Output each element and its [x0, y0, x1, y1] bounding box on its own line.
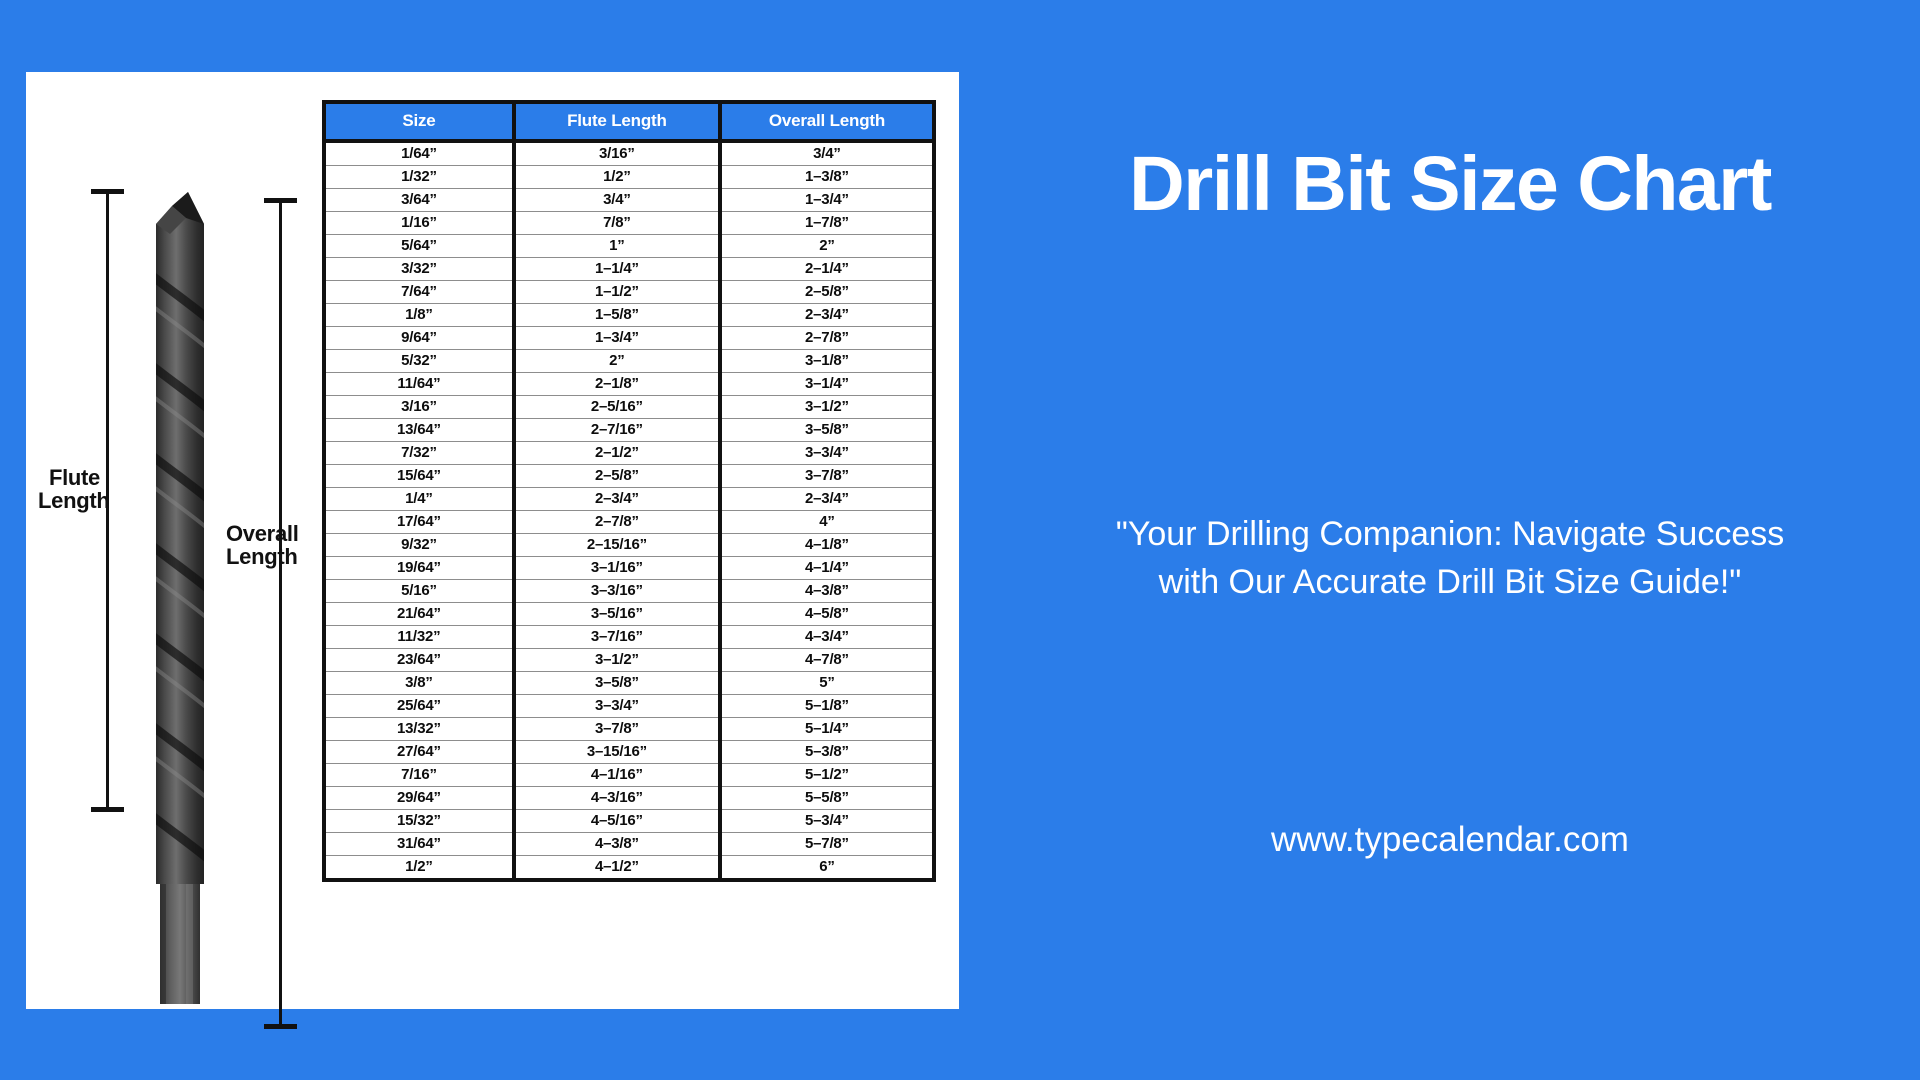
cell-size: 31/64”	[326, 833, 514, 856]
table-row: 19/64”3–1/16”4–1/4”	[326, 557, 932, 580]
table-row: 1/4”2–3/4”2–3/4”	[326, 488, 932, 511]
flute-length-bottom-tick	[91, 807, 124, 812]
cell-flute-length: 1”	[514, 235, 720, 258]
cell-size: 25/64”	[326, 695, 514, 718]
table-row: 5/16”3–3/16”4–3/8”	[326, 580, 932, 603]
cell-overall-length: 3–1/8”	[720, 350, 932, 373]
table-row: 25/64”3–3/4”5–1/8”	[326, 695, 932, 718]
table-header-row: Size Flute Length Overall Length	[326, 104, 932, 141]
table-row: 1/64”3/16”3/4”	[326, 141, 932, 166]
tagline-line-2: with Our Accurate Drill Bit Size Guide!"	[1000, 558, 1900, 606]
table-row: 3/16”2–5/16”3–1/2”	[326, 396, 932, 419]
cell-flute-length: 2–7/8”	[514, 511, 720, 534]
cell-size: 11/64”	[326, 373, 514, 396]
cell-flute-length: 3–3/4”	[514, 695, 720, 718]
cell-flute-length: 4–3/8”	[514, 833, 720, 856]
table-row: 3/8”3–5/8”5”	[326, 672, 932, 695]
cell-size: 13/64”	[326, 419, 514, 442]
cell-size: 5/16”	[326, 580, 514, 603]
cell-overall-length: 4–1/4”	[720, 557, 932, 580]
cell-flute-length: 1–5/8”	[514, 304, 720, 327]
cell-size: 13/32”	[326, 718, 514, 741]
table-row: 13/32”3–7/8”5–1/4”	[326, 718, 932, 741]
cell-size: 1/4”	[326, 488, 514, 511]
overall-length-dimension-line	[279, 199, 282, 1027]
table-row: 7/64”1–1/2”2–5/8”	[326, 281, 932, 304]
cell-overall-length: 3–1/4”	[720, 373, 932, 396]
cell-flute-length: 3–3/16”	[514, 580, 720, 603]
cell-overall-length: 5–7/8”	[720, 833, 932, 856]
cell-size: 7/32”	[326, 442, 514, 465]
cell-overall-length: 3/4”	[720, 141, 932, 166]
cell-size: 15/32”	[326, 810, 514, 833]
cell-flute-length: 2–7/16”	[514, 419, 720, 442]
table-row: 1/16”7/8”1–7/8”	[326, 212, 932, 235]
cell-overall-length: 1–7/8”	[720, 212, 932, 235]
cell-flute-length: 2–1/8”	[514, 373, 720, 396]
cell-flute-length: 2–1/2”	[514, 442, 720, 465]
table-row: 17/64”2–7/8”4”	[326, 511, 932, 534]
table-row: 7/32”2–1/2”3–3/4”	[326, 442, 932, 465]
cell-size: 3/16”	[326, 396, 514, 419]
cell-overall-length: 4–3/4”	[720, 626, 932, 649]
cell-flute-length: 4–5/16”	[514, 810, 720, 833]
cell-size: 21/64”	[326, 603, 514, 626]
cell-overall-length: 3–7/8”	[720, 465, 932, 488]
cell-flute-length: 1/2”	[514, 166, 720, 189]
column-header-flute-length: Flute Length	[514, 104, 720, 141]
cell-overall-length: 2–5/8”	[720, 281, 932, 304]
cell-size: 9/32”	[326, 534, 514, 557]
drill-bit-size-table: Size Flute Length Overall Length 1/64”3/…	[326, 104, 932, 878]
flute-length-top-tick	[91, 189, 124, 194]
right-text-panel: Drill Bit Size Chart "Your Drilling Comp…	[1000, 0, 1900, 1080]
cell-overall-length: 4–5/8”	[720, 603, 932, 626]
cell-overall-length: 2–1/4”	[720, 258, 932, 281]
twist-drill-bit-icon	[126, 184, 246, 1004]
cell-flute-length: 2–3/4”	[514, 488, 720, 511]
overall-length-top-tick	[264, 198, 297, 203]
drill-bit-size-table-container: Size Flute Length Overall Length 1/64”3/…	[322, 100, 936, 882]
cell-overall-length: 3–3/4”	[720, 442, 932, 465]
cell-overall-length: 4”	[720, 511, 932, 534]
poster-canvas: Flute Length Overall Length	[0, 0, 1920, 1080]
cell-size: 1/32”	[326, 166, 514, 189]
cell-overall-length: 5”	[720, 672, 932, 695]
cell-overall-length: 2–7/8”	[720, 327, 932, 350]
cell-flute-length: 7/8”	[514, 212, 720, 235]
cell-overall-length: 2”	[720, 235, 932, 258]
cell-size: 1/8”	[326, 304, 514, 327]
table-row: 7/16”4–1/16”5–1/2”	[326, 764, 932, 787]
table-row: 29/64”4–3/16”5–5/8”	[326, 787, 932, 810]
cell-overall-length: 5–1/2”	[720, 764, 932, 787]
table-row: 9/64”1–3/4”2–7/8”	[326, 327, 932, 350]
cell-overall-length: 4–1/8”	[720, 534, 932, 557]
cell-flute-length: 3–7/8”	[514, 718, 720, 741]
cell-size: 3/32”	[326, 258, 514, 281]
table-row: 5/64”1”2”	[326, 235, 932, 258]
flute-length-label-line2: Length	[38, 489, 100, 512]
table-row: 1/8”1–5/8”2–3/4”	[326, 304, 932, 327]
cell-flute-length: 4–3/16”	[514, 787, 720, 810]
table-header: Size Flute Length Overall Length	[326, 104, 932, 141]
cell-flute-length: 4–1/2”	[514, 856, 720, 879]
cell-size: 17/64”	[326, 511, 514, 534]
cell-overall-length: 4–3/8”	[720, 580, 932, 603]
cell-overall-length: 6”	[720, 856, 932, 879]
cell-overall-length: 3–1/2”	[720, 396, 932, 419]
cell-overall-length: 1–3/8”	[720, 166, 932, 189]
table-row: 1/32”1/2”1–3/8”	[326, 166, 932, 189]
cell-size: 15/64”	[326, 465, 514, 488]
cell-size: 3/64”	[326, 189, 514, 212]
tagline: "Your Drilling Companion: Navigate Succe…	[1000, 510, 1900, 607]
table-row: 23/64”3–1/2”4–7/8”	[326, 649, 932, 672]
cell-size: 7/64”	[326, 281, 514, 304]
flute-length-label-line1: Flute	[38, 466, 100, 489]
cell-overall-length: 5–1/4”	[720, 718, 932, 741]
white-content-card: Flute Length Overall Length	[26, 72, 959, 1009]
cell-flute-length: 2–15/16”	[514, 534, 720, 557]
cell-size: 1/2”	[326, 856, 514, 879]
cell-overall-length: 2–3/4”	[720, 488, 932, 511]
table-row: 11/64”2–1/8”3–1/4”	[326, 373, 932, 396]
cell-overall-length: 4–7/8”	[720, 649, 932, 672]
cell-size: 23/64”	[326, 649, 514, 672]
cell-flute-length: 1–1/4”	[514, 258, 720, 281]
cell-size: 3/8”	[326, 672, 514, 695]
table-body: 1/64”3/16”3/4”1/32”1/2”1–3/8”3/64”3/4”1–…	[326, 141, 932, 878]
column-header-overall-length: Overall Length	[720, 104, 932, 141]
column-header-size: Size	[326, 104, 514, 141]
cell-flute-length: 1–3/4”	[514, 327, 720, 350]
cell-size: 1/64”	[326, 141, 514, 166]
website-url: www.typecalendar.com	[1000, 820, 1900, 860]
cell-flute-length: 3–5/16”	[514, 603, 720, 626]
table-row: 3/32”1–1/4”2–1/4”	[326, 258, 932, 281]
cell-size: 9/64”	[326, 327, 514, 350]
cell-flute-length: 3–1/2”	[514, 649, 720, 672]
cell-size: 5/64”	[326, 235, 514, 258]
cell-overall-length: 5–5/8”	[720, 787, 932, 810]
cell-flute-length: 3–1/16”	[514, 557, 720, 580]
cell-flute-length: 3/4”	[514, 189, 720, 212]
cell-overall-length: 5–3/8”	[720, 741, 932, 764]
cell-overall-length: 5–1/8”	[720, 695, 932, 718]
cell-size: 5/32”	[326, 350, 514, 373]
cell-size: 19/64”	[326, 557, 514, 580]
table-row: 15/32”4–5/16”5–3/4”	[326, 810, 932, 833]
table-row: 15/64”2–5/8”3–7/8”	[326, 465, 932, 488]
table-row: 21/64”3–5/16”4–5/8”	[326, 603, 932, 626]
cell-flute-length: 2–5/8”	[514, 465, 720, 488]
cell-flute-length: 1–1/2”	[514, 281, 720, 304]
tagline-line-1: "Your Drilling Companion: Navigate Succe…	[1000, 510, 1900, 558]
cell-flute-length: 3/16”	[514, 141, 720, 166]
cell-overall-length: 1–3/4”	[720, 189, 932, 212]
cell-size: 27/64”	[326, 741, 514, 764]
cell-size: 11/32”	[326, 626, 514, 649]
cell-flute-length: 3–7/16”	[514, 626, 720, 649]
cell-flute-length: 2”	[514, 350, 720, 373]
cell-overall-length: 3–5/8”	[720, 419, 932, 442]
cell-flute-length: 2–5/16”	[514, 396, 720, 419]
cell-overall-length: 5–3/4”	[720, 810, 932, 833]
table-row: 11/32”3–7/16”4–3/4”	[326, 626, 932, 649]
table-row: 1/2”4–1/2”6”	[326, 856, 932, 879]
drill-bit-diagram: Flute Length Overall Length	[26, 72, 326, 1009]
table-row: 13/64”2–7/16”3–5/8”	[326, 419, 932, 442]
cell-overall-length: 2–3/4”	[720, 304, 932, 327]
page-title: Drill Bit Size Chart	[1000, 140, 1900, 229]
cell-size: 7/16”	[326, 764, 514, 787]
table-row: 31/64”4–3/8”5–7/8”	[326, 833, 932, 856]
cell-flute-length: 3–15/16”	[514, 741, 720, 764]
table-row: 5/32”2”3–1/8”	[326, 350, 932, 373]
table-row: 3/64”3/4”1–3/4”	[326, 189, 932, 212]
table-row: 9/32”2–15/16”4–1/8”	[326, 534, 932, 557]
overall-length-bottom-tick	[264, 1024, 297, 1029]
cell-flute-length: 3–5/8”	[514, 672, 720, 695]
cell-size: 29/64”	[326, 787, 514, 810]
cell-size: 1/16”	[326, 212, 514, 235]
table-row: 27/64”3–15/16”5–3/8”	[326, 741, 932, 764]
flute-length-label: Flute Length	[38, 466, 100, 512]
cell-flute-length: 4–1/16”	[514, 764, 720, 787]
